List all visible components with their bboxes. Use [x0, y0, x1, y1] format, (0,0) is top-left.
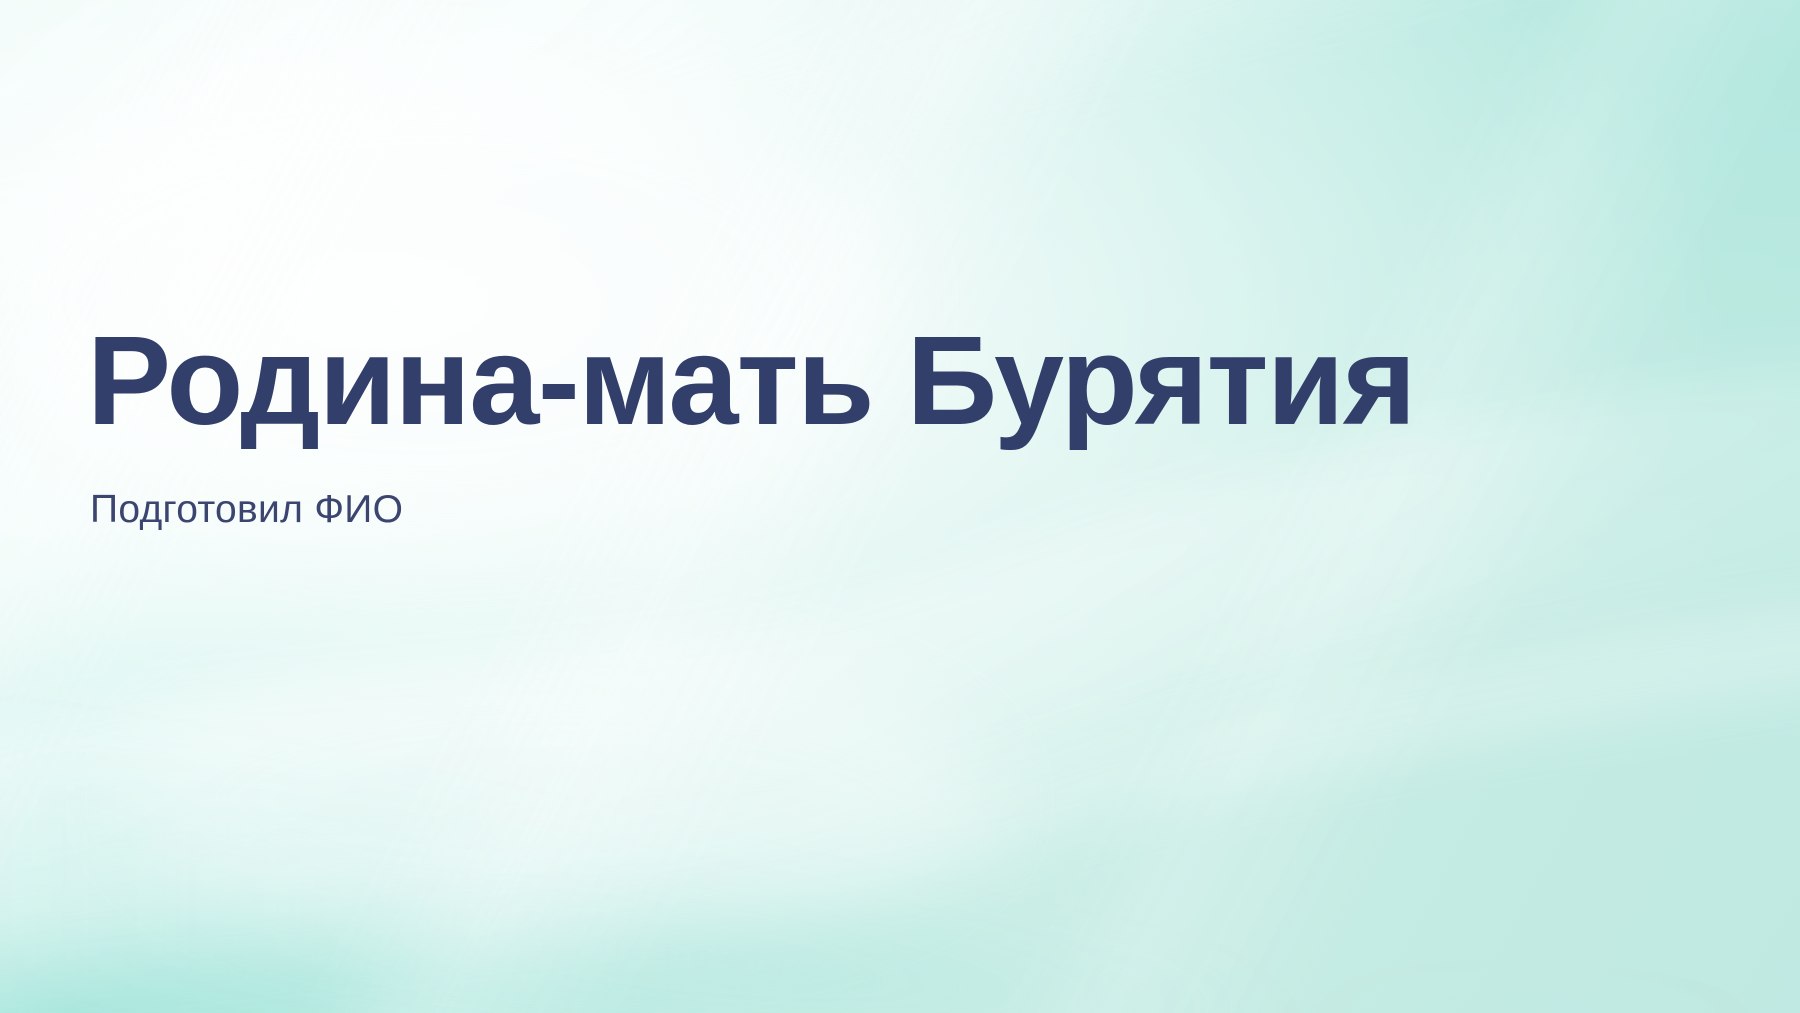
page-title: Родина-мать Бурятия — [87, 318, 1415, 444]
slide-subtitle: Подготовил ФИО — [90, 487, 403, 534]
slide-text-block: Родина-мать Бурятия Подготовил ФИО — [87, 0, 1587, 1013]
presentation-slide: Родина-мать Бурятия Подготовил ФИО — [0, 0, 1800, 1013]
